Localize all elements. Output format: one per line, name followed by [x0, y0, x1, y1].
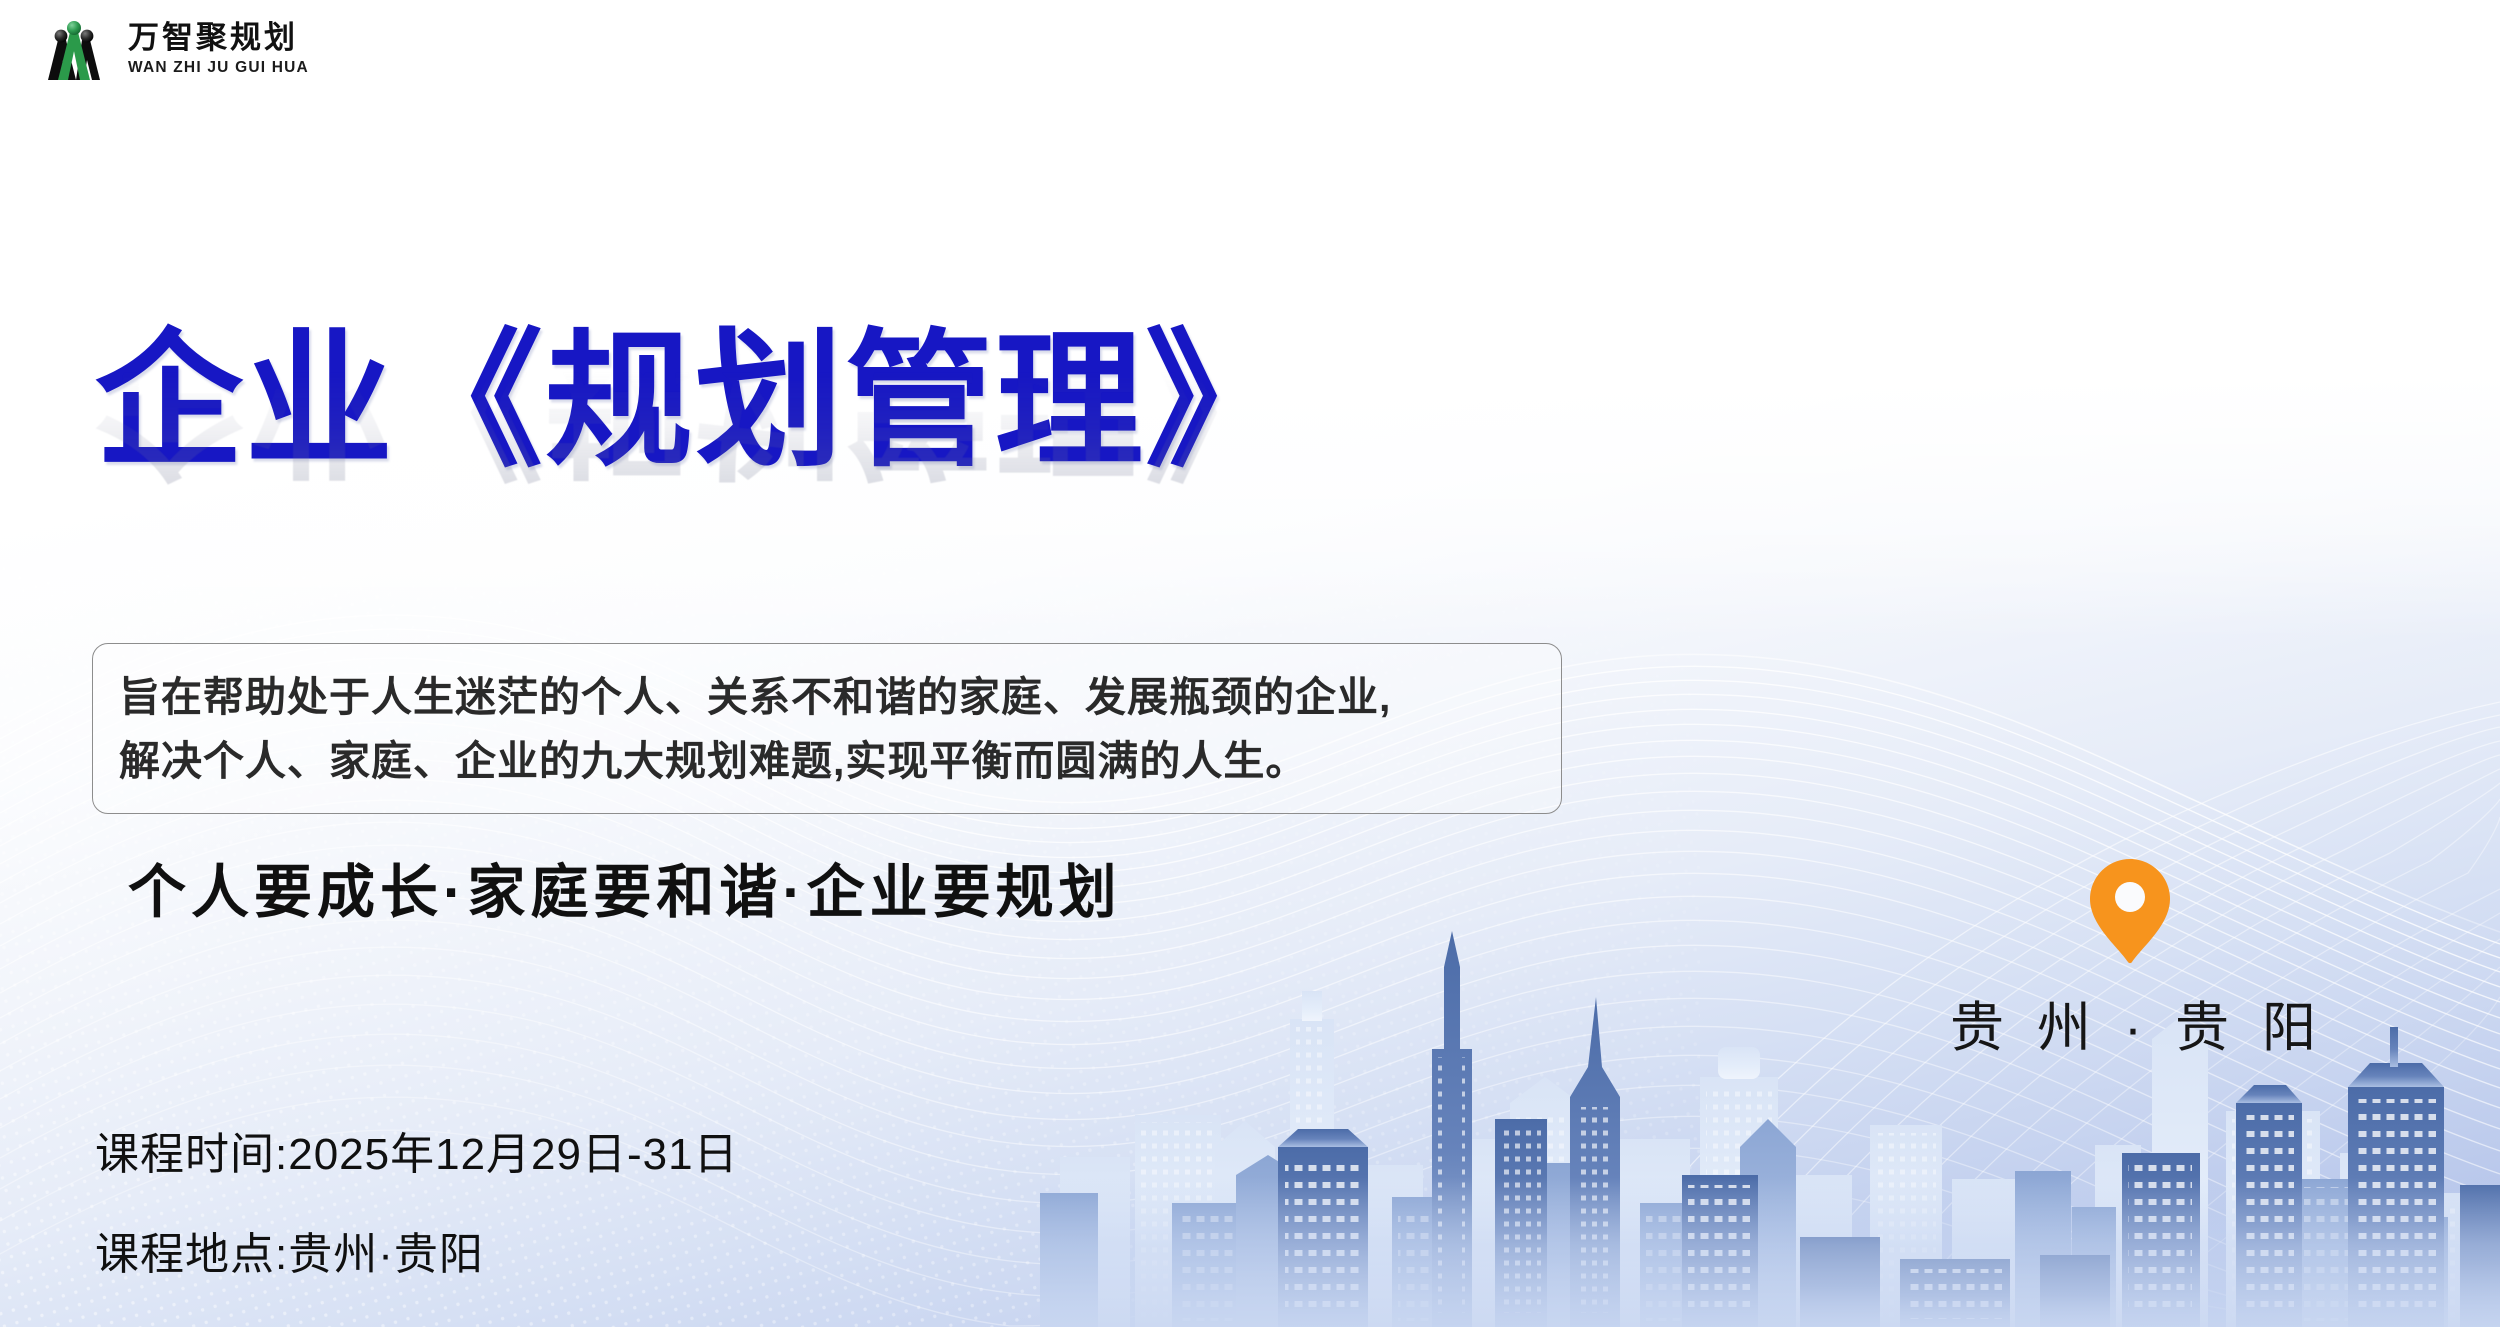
course-time-row: 课程时间:2025年12月29日-31日: [95, 1118, 739, 1182]
location-label: 贵 州 · 贵 阳: [1950, 983, 2310, 1062]
location-block: 贵 州 · 贵 阳: [1950, 855, 2310, 1062]
page-title-reflection: 企业《规划管理》: [95, 326, 1695, 486]
headline-block: 企业《规划管理》 企业《规划管理》: [95, 322, 1695, 646]
description-line-2: 解决个人、家庭、企业的九大规划难题,实现平衡而圆满的人生。: [119, 730, 1535, 794]
description-line-1: 旨在帮助处于人生迷茫的个人、关系不和谐的家庭、发展瓶颈的企业,: [119, 666, 1535, 730]
brand-name-en: WAN ZHI JU GUI HUA: [128, 60, 309, 76]
skyline-bottom-fade: [1040, 1177, 2500, 1327]
map-pin-icon: [2084, 855, 2176, 967]
course-place-row: 课程地点:贵州·贵阳: [95, 1218, 739, 1282]
course-info-block: 课程时间:2025年12月29日-31日 课程地点:贵州·贵阳: [95, 1118, 739, 1282]
description-box: 旨在帮助处于人生迷茫的个人、关系不和谐的家庭、发展瓶颈的企业, 解决个人、家庭、…: [92, 643, 1562, 814]
three-people-m-logo-icon: [36, 14, 114, 84]
brand-logo: 万智聚规划 WAN ZHI JU GUI HUA: [36, 14, 309, 84]
poster-canvas: 万智聚规划 WAN ZHI JU GUI HUA 企业《规划管理》 企业《规划管…: [0, 0, 2500, 1327]
brand-name-cn: 万智聚规划: [128, 22, 309, 53]
brand-logo-text: 万智聚规划 WAN ZHI JU GUI HUA: [128, 22, 309, 76]
slogan-text: 个人要成长·家庭要和谐·企业要规划: [128, 845, 1122, 929]
